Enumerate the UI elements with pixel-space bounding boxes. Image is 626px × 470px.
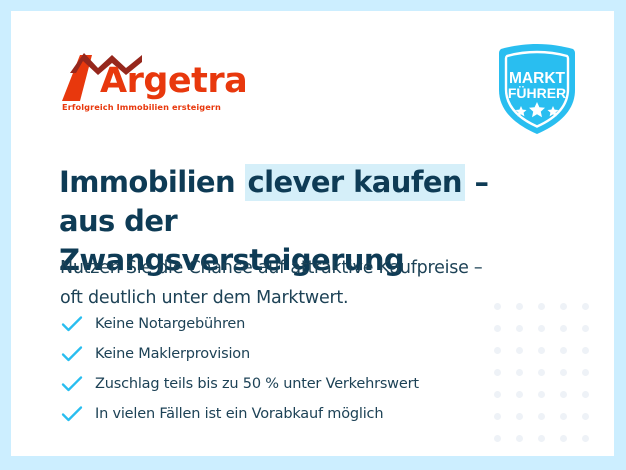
- dot: [560, 325, 567, 332]
- dot: [560, 347, 567, 354]
- dot: [560, 435, 567, 442]
- benefits-list: Keine NotargebührenKeine Maklerprovision…: [61, 309, 531, 429]
- dot: [516, 435, 523, 442]
- benefit-label: Zuschlag teils bis zu 50 % unter Verkehr…: [95, 376, 419, 392]
- dot: [494, 435, 501, 442]
- headline-line1-suffix: –: [465, 165, 488, 199]
- benefit-item: Zuschlag teils bis zu 50 % unter Verkehr…: [61, 369, 531, 399]
- headline-line1-prefix: Immobilien: [59, 165, 245, 199]
- logo-mark: Argetra: [60, 51, 270, 103]
- check-icon: [61, 405, 83, 423]
- dot: [538, 347, 545, 354]
- benefit-label: Keine Maklerprovision: [95, 346, 250, 362]
- dot: [560, 303, 567, 310]
- dot: [538, 303, 545, 310]
- shield-icon: MARKT FÜHRER: [494, 42, 580, 136]
- dot: [582, 325, 589, 332]
- dot-row: [494, 435, 604, 442]
- dot: [582, 391, 589, 398]
- benefit-item: Keine Maklerprovision: [61, 339, 531, 369]
- dot: [538, 435, 545, 442]
- check-icon: [61, 315, 83, 333]
- subhead-line2: oft deutlich unter dem Marktwert.: [60, 288, 348, 308]
- benefit-label: In vielen Fällen ist ein Vorabkauf mögli…: [95, 406, 383, 422]
- subhead-line1: Nutzen Sie die Chance auf attraktive Kau…: [60, 258, 482, 278]
- headline-highlight: clever kaufen: [245, 164, 465, 201]
- dot: [582, 413, 589, 420]
- benefit-label: Keine Notargebühren: [95, 316, 245, 332]
- dot: [582, 303, 589, 310]
- badge-line2: FÜHRER: [508, 85, 566, 101]
- benefit-item: In vielen Fällen ist ein Vorabkauf mögli…: [61, 399, 531, 429]
- logo-tagline: Erfolgreich Immobilien ersteigern: [62, 102, 221, 112]
- check-icon: [61, 345, 83, 363]
- dot: [582, 369, 589, 376]
- dot: [538, 413, 545, 420]
- banner-card: Argetra Erfolgreich Immobilien ersteiger…: [11, 11, 614, 456]
- dot: [560, 369, 567, 376]
- logo-wordmark: Argetra: [100, 59, 247, 103]
- benefit-item: Keine Notargebühren: [61, 309, 531, 339]
- dot: [560, 391, 567, 398]
- argetra-logo[interactable]: Argetra Erfolgreich Immobilien ersteiger…: [60, 51, 270, 103]
- dot: [538, 391, 545, 398]
- dot: [538, 369, 545, 376]
- dot: [582, 435, 589, 442]
- advertisement-banner: Argetra Erfolgreich Immobilien ersteiger…: [0, 0, 626, 470]
- check-icon: [61, 375, 83, 393]
- page-subtitle: Nutzen Sie die Chance auf attraktive Kau…: [60, 253, 530, 313]
- market-leader-badge: MARKT FÜHRER: [494, 42, 580, 136]
- dot: [582, 347, 589, 354]
- dot: [538, 325, 545, 332]
- dot: [560, 413, 567, 420]
